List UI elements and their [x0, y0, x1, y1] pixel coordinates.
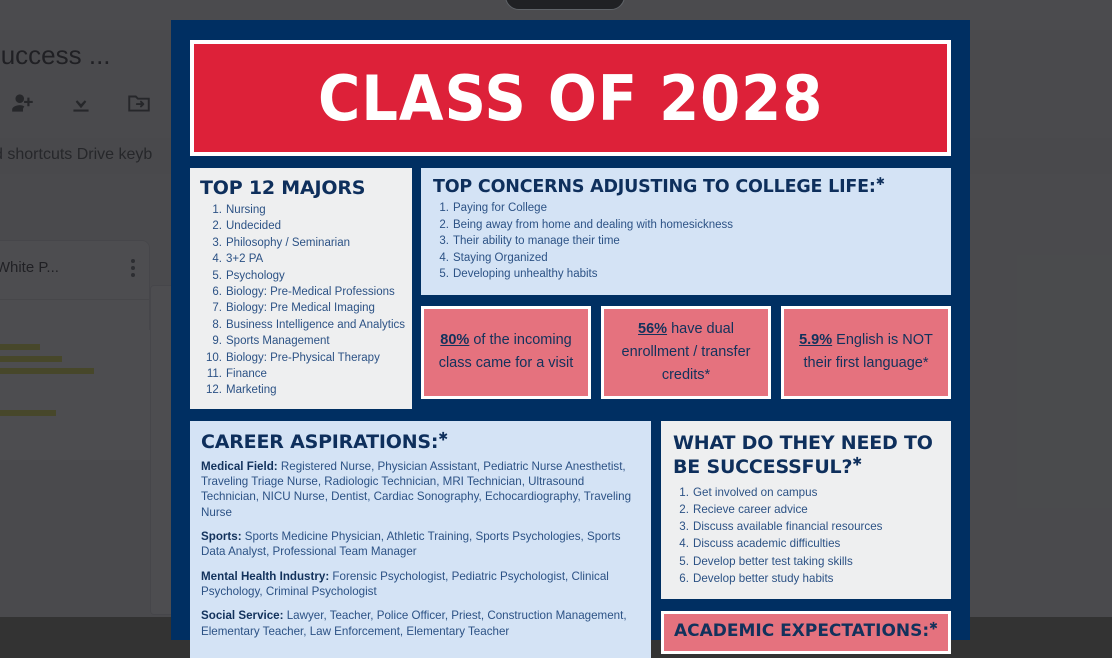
- career-group-sports: Sports: Sports Medicine Physician, Athle…: [201, 529, 639, 560]
- statistics-row: 80% of the incoming class came for a vis…: [421, 306, 951, 399]
- poster-title-banner: CLASS OF 2028: [190, 40, 951, 156]
- right-column: WHAT DO THEY NEED TO BE SUCCESSFUL?✱ Get…: [661, 421, 951, 658]
- academic-expectations-heading: ACADEMIC EXPECTATIONS:✱: [674, 621, 938, 641]
- needs-list: Get involved on campus Recieve career ad…: [673, 484, 939, 587]
- top-concerns-list: Paying for College Being away from home …: [433, 200, 939, 283]
- stat-box-visit: 80% of the incoming class came for a vis…: [421, 306, 591, 399]
- footnote-asterisk: ✱: [929, 620, 938, 632]
- career-group-social-service: Social Service: Lawyer, Teacher, Police …: [201, 608, 639, 639]
- footnote-asterisk: ✱: [852, 455, 862, 469]
- list-item: 3+2 PA: [200, 251, 400, 267]
- career-aspirations-panel: CAREER ASPIRATIONS:✱ Medical Field: Regi…: [190, 421, 651, 658]
- lower-row: CAREER ASPIRATIONS:✱ Medical Field: Regi…: [190, 421, 951, 658]
- upper-row: TOP 12 MAJORS Nursing Undecided Philosop…: [190, 168, 951, 409]
- career-group-label: Sports:: [201, 530, 242, 543]
- stat-value: 5.9%: [799, 332, 832, 348]
- list-item: Finance: [200, 366, 400, 382]
- page-title: CLASS OF 2028: [318, 62, 823, 135]
- career-aspirations-heading: CAREER ASPIRATIONS:✱: [201, 431, 639, 453]
- needs-panel: WHAT DO THEY NEED TO BE SUCCESSFUL?✱ Get…: [661, 421, 951, 599]
- list-item: Biology: Pre Medical Imaging: [200, 300, 400, 316]
- list-item: Marketing: [200, 382, 400, 398]
- list-item: Paying for College: [433, 200, 939, 217]
- list-item: Develop better study habits: [673, 570, 939, 587]
- top-concerns-heading-text: TOP CONCERNS ADJUSTING TO COLLEGE LIFE:: [433, 177, 876, 197]
- list-item: Biology: Pre-Physical Therapy: [200, 350, 400, 366]
- top-majors-heading: TOP 12 MAJORS: [200, 177, 400, 199]
- stat-value: 56%: [638, 321, 667, 337]
- career-group-text: Sports Medicine Physician, Athletic Trai…: [201, 530, 621, 558]
- concerns-column: TOP CONCERNS ADJUSTING TO COLLEGE LIFE:✱…: [421, 168, 951, 409]
- list-item: Nursing: [200, 202, 400, 218]
- academic-expectations-panel: ACADEMIC EXPECTATIONS:✱: [661, 611, 951, 654]
- list-item: Developing unhealthy habits: [433, 266, 939, 283]
- list-item: Discuss academic difficulties: [673, 535, 939, 552]
- career-group-medical: Medical Field: Registered Nurse, Physici…: [201, 459, 639, 520]
- top-concerns-panel: TOP CONCERNS ADJUSTING TO COLLEGE LIFE:✱…: [421, 168, 951, 295]
- academic-expectations-heading-text: ACADEMIC EXPECTATIONS:: [674, 621, 929, 641]
- list-item: Staying Organized: [433, 250, 939, 267]
- list-item: Develop better test taking skills: [673, 553, 939, 570]
- top-tooltip-pill: [505, 0, 625, 10]
- career-group-mental-health: Mental Health Industry: Forensic Psychol…: [201, 569, 639, 600]
- list-item: Business Intelligence and Analytics: [200, 317, 400, 333]
- career-aspirations-heading-text: CAREER ASPIRATIONS:: [201, 431, 438, 453]
- footnote-asterisk: ✱: [438, 430, 448, 444]
- top-majors-list: Nursing Undecided Philosophy / Seminaria…: [200, 202, 400, 399]
- needs-heading-text: WHAT DO THEY NEED TO BE SUCCESSFUL?: [673, 432, 933, 478]
- list-item: Undecided: [200, 218, 400, 234]
- list-item: Recieve career advice: [673, 501, 939, 518]
- top-majors-panel: TOP 12 MAJORS Nursing Undecided Philosop…: [190, 168, 412, 409]
- list-item: Their ability to manage their time: [433, 233, 939, 250]
- list-item: Get involved on campus: [673, 484, 939, 501]
- needs-heading: WHAT DO THEY NEED TO BE SUCCESSFUL?✱: [673, 431, 939, 479]
- list-item: Sports Management: [200, 333, 400, 349]
- list-item: Philosophy / Seminarian: [200, 235, 400, 251]
- career-group-label: Mental Health Industry:: [201, 570, 329, 583]
- top-concerns-heading: TOP CONCERNS ADJUSTING TO COLLEGE LIFE:✱: [433, 177, 939, 197]
- list-item: Biology: Pre-Medical Professions: [200, 284, 400, 300]
- career-group-label: Medical Field:: [201, 460, 278, 473]
- stat-box-first-language: 5.9% English is NOT their first language…: [781, 306, 951, 399]
- stat-box-dual-enrollment: 56% have dual enrollment / transfer cred…: [601, 306, 771, 399]
- list-item: Psychology: [200, 268, 400, 284]
- stat-value: 80%: [440, 332, 469, 348]
- list-item: Discuss available financial resources: [673, 518, 939, 535]
- list-item: Being away from home and dealing with ho…: [433, 217, 939, 234]
- class-of-2028-poster: CLASS OF 2028 TOP 12 MAJORS Nursing Unde…: [171, 20, 970, 640]
- footnote-asterisk: ✱: [876, 175, 885, 188]
- career-group-label: Social Service:: [201, 609, 284, 622]
